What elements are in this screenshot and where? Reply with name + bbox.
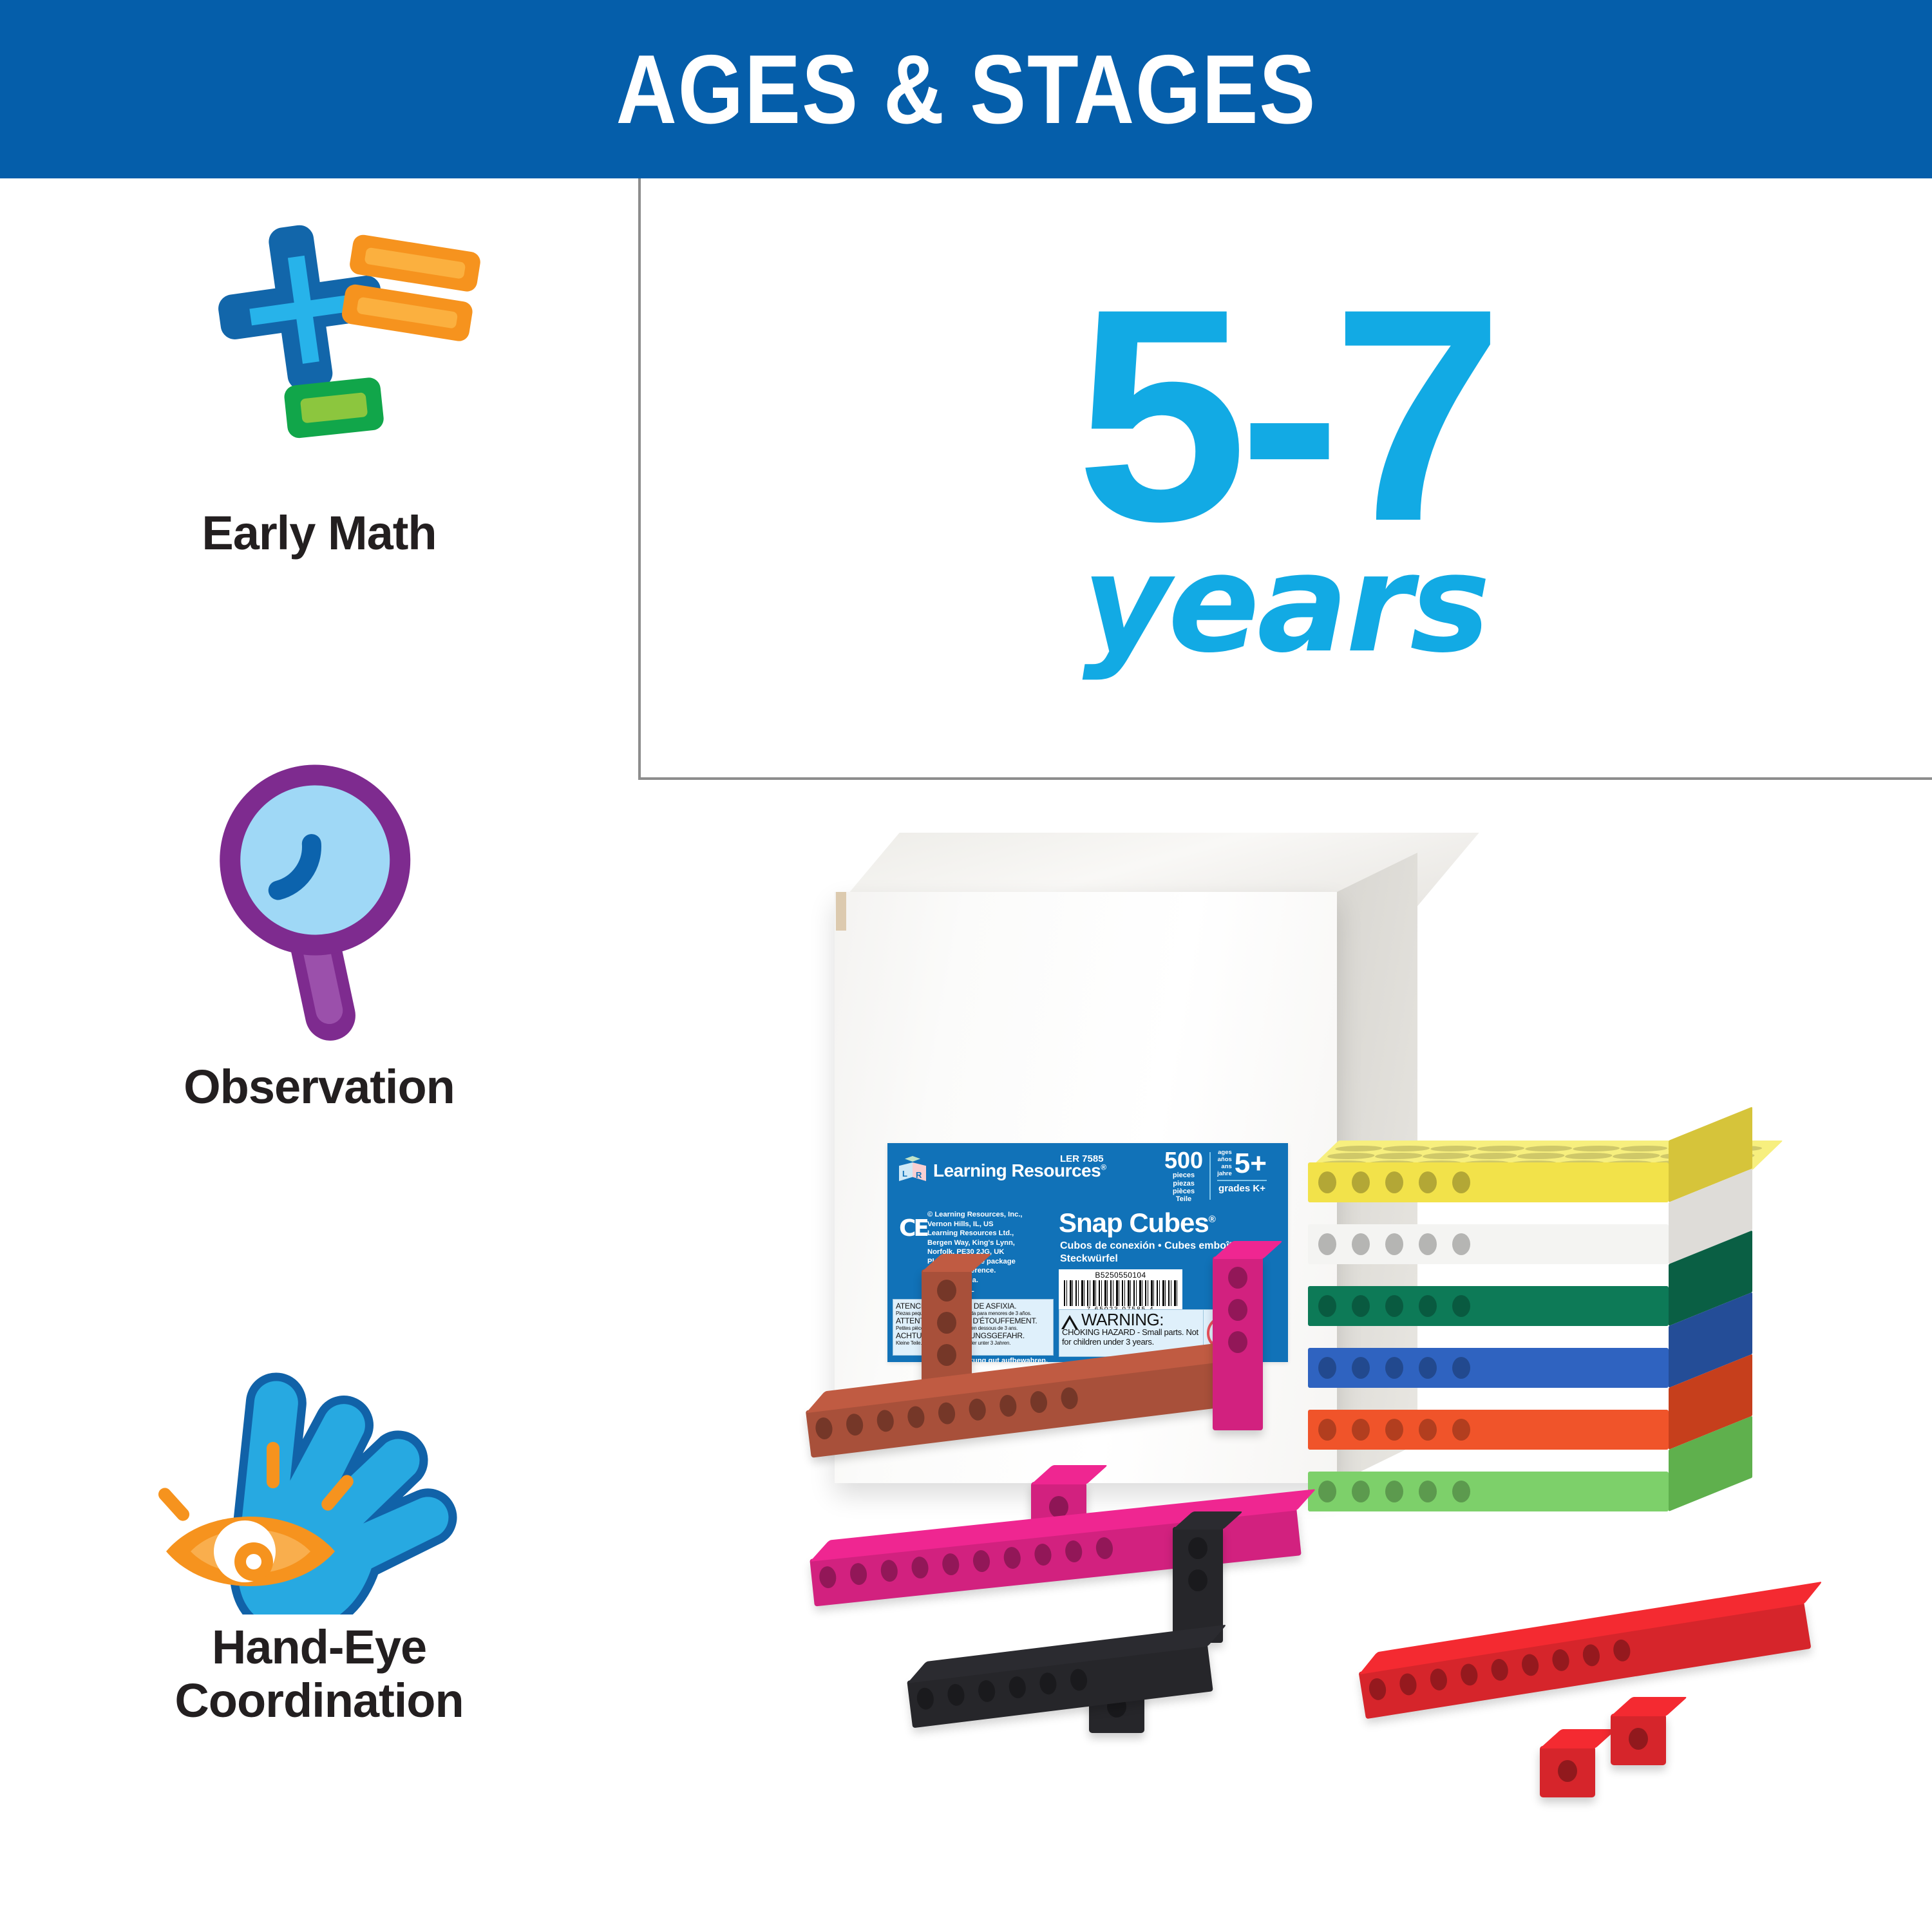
warn-de-text: Kleine Teile. Nicht geeignet für Kinder … [896,1340,1050,1346]
feature-label: Hand-Eye Coordination [175,1621,463,1728]
page-header: AGES & STAGES [0,0,1932,178]
stack-layer-dark-green [1308,1264,1752,1326]
page-title: AGES & STAGES [616,41,1316,138]
box-tape [836,892,846,931]
hand-eye-icon [152,1312,487,1615]
barcode-number: B5250550104 [1059,1269,1182,1280]
pieces-count: 500 [1164,1150,1203,1171]
addr-1: Vernon Hills, IL, US [927,1220,994,1228]
math-symbols-icon [152,217,487,500]
feature-item-hand-eye: Hand-Eye Coordination [0,1312,638,1728]
ce-mark: CE [899,1215,927,1242]
warning-text: CHOKING HAZARD - Small parts. Not for ch… [1062,1328,1200,1347]
warn-es-text: Piezas pequeñas. No se recomienda para m… [896,1311,1050,1316]
feature-list: Early Math Observation [0,178,638,1932]
feature-item-early-math: Early Math [0,217,638,560]
cube-tower-magenta [1213,1256,1263,1430]
feature-label: Early Math [202,507,436,560]
barcode-bars [1064,1280,1177,1306]
cube-letter-left: L [902,1169,907,1179]
cube-rod-black [907,1644,1213,1728]
warning-box-multilingual: ATENCIÓN: PELIGRO DE ASFIXIA. Piezas peq… [893,1299,1054,1356]
spec-separator [1209,1152,1211,1200]
cube-letter-right: R [916,1170,922,1180]
ages-spec: ages años ans jahre 5+ grades K+ [1217,1150,1267,1194]
pieces-spec: 500 pieces piezas pièces Teile [1164,1150,1203,1203]
age-range-panel: 5-7 years [638,178,1932,777]
age-range-number: 5-7 [1075,291,1494,539]
addr-3: Bergen Way, King's Lynn, [927,1239,1015,1247]
warning-triangle-icon: ! [1061,1315,1078,1329]
cube-rod-red [1359,1602,1812,1719]
warn-de-title: ACHTUNG: ERSTICKUNGSGEFAHR. [896,1331,1050,1340]
warning-word: WARNING: [1081,1311,1200,1328]
subtitle-line-2: Steckwürfel [1060,1253,1118,1264]
pieces-words: pieces piezas pièces Teile [1164,1171,1203,1203]
item-number: LER 7585 [1060,1153,1104,1164]
grades-value: grades K+ [1217,1180,1267,1194]
feature-label: Observation [184,1061,455,1114]
stack-layer-light-green [1308,1450,1752,1511]
warn-fr-title: ATTENTION: RISQUE D'ÉTOUFFEMENT. [896,1316,1050,1325]
cube-stack [1308,1141,1810,1604]
product-photo: L R Learning Resources® CE © Learning Re… [638,780,1932,1932]
cube-logo-icon: L R [898,1156,927,1186]
addr-0: © Learning Resources, Inc., [927,1211,1023,1218]
product-title: Snap Cubes® [1059,1207,1215,1238]
addr-2: Learning Resources Ltd., [927,1229,1014,1237]
warn-es-title: ATENCIÓN: PELIGRO DE ASFIXIA. [896,1302,1050,1311]
ages-value: 5+ [1235,1151,1267,1177]
magnifying-glass-icon [152,745,487,1054]
stack-layer-blue [1308,1326,1752,1388]
cube-single-red-1 [1540,1746,1595,1797]
cube-single-red-2 [1611,1714,1666,1765]
warn-fr-text: Petites pièces. Interdit aux enfants en … [896,1325,1050,1331]
ages-words: ages años ans jahre [1217,1150,1232,1178]
stack-layer-orange-red [1308,1388,1752,1450]
stack-layer-yellow [1308,1141,1752,1202]
stack-layer-white [1308,1202,1752,1264]
feature-item-observation: Observation [0,745,638,1114]
label-specs: 500 pieces piezas pièces Teile ages años… [1164,1150,1267,1203]
brand-name: Learning Resources® [933,1162,1106,1180]
